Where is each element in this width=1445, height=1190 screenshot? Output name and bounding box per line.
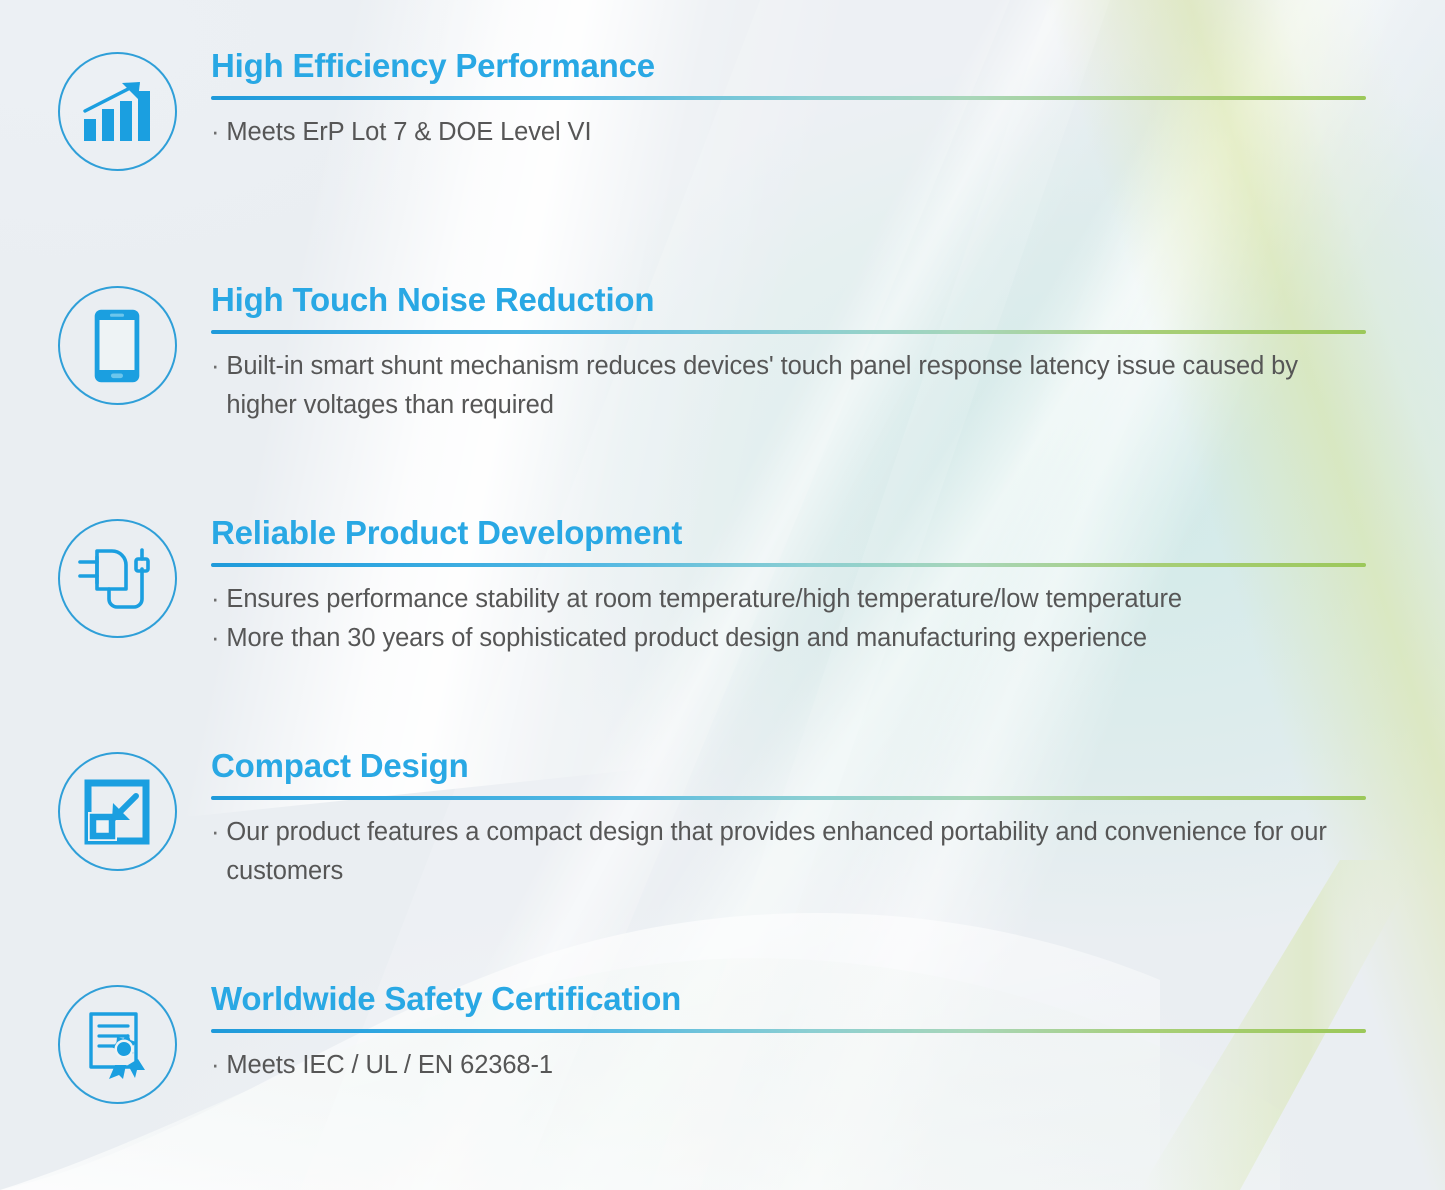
- feature-icon-container: [52, 748, 182, 871]
- feature-bullet: · Built-in smart shunt mechanism reduces…: [211, 347, 1365, 425]
- feature-item-high-touch-noise-reduction: High Touch Noise Reduction · Built-in sm…: [0, 282, 1445, 424]
- feature-title: High Efficiency Performance: [211, 48, 1365, 85]
- feature-bullet: · Ensures performance stability at room …: [211, 580, 1365, 619]
- feature-bullets: · Our product features a compact design …: [211, 813, 1365, 891]
- feature-item-worldwide-safety-certification: Worldwide Safety Certification · Meets I…: [0, 981, 1445, 1104]
- feature-text-block: Compact Design · Our product features a …: [182, 748, 1445, 890]
- bullet-text: Meets ErP Lot 7 & DOE Level VI: [226, 113, 1365, 152]
- feature-title: High Touch Noise Reduction: [211, 282, 1365, 319]
- feature-divider: [211, 1029, 1366, 1033]
- feature-bullets: · Meets ErP Lot 7 & DOE Level VI: [211, 113, 1365, 152]
- feature-title: Worldwide Safety Certification: [211, 981, 1365, 1018]
- feature-divider: [211, 796, 1366, 800]
- power-adapter-icon: [58, 519, 177, 638]
- bullet-marker: ·: [211, 619, 226, 658]
- feature-item-high-efficiency-performance: High Efficiency Performance · Meets ErP …: [0, 48, 1445, 171]
- feature-icon-container: [52, 282, 182, 405]
- feature-text-block: High Efficiency Performance · Meets ErP …: [182, 48, 1445, 152]
- bullet-marker: ·: [211, 813, 226, 891]
- compact-resize-icon: [58, 752, 177, 871]
- bar-chart-growth-icon: [58, 52, 177, 171]
- feature-bullets: · Meets IEC / UL / EN 62368-1: [211, 1046, 1365, 1085]
- bullet-text: Meets IEC / UL / EN 62368-1: [226, 1046, 1365, 1085]
- bullet-marker: ·: [211, 347, 226, 425]
- feature-title: Reliable Product Development: [211, 515, 1365, 552]
- feature-divider: [211, 563, 1366, 567]
- feature-text-block: Reliable Product Development · Ensures p…: [182, 515, 1445, 657]
- feature-divider: [211, 330, 1366, 334]
- feature-title: Compact Design: [211, 748, 1365, 785]
- bullet-text: More than 30 years of sophisticated prod…: [226, 619, 1365, 658]
- smartphone-icon: [58, 286, 177, 405]
- feature-text-block: High Touch Noise Reduction · Built-in sm…: [182, 282, 1445, 424]
- feature-bullet: · Meets IEC / UL / EN 62368-1: [211, 1046, 1365, 1085]
- feature-bullet: · Meets ErP Lot 7 & DOE Level VI: [211, 113, 1365, 152]
- feature-icon-container: [52, 981, 182, 1104]
- feature-bullet: · Our product features a compact design …: [211, 813, 1365, 891]
- bullet-text: Ensures performance stability at room te…: [226, 580, 1365, 619]
- feature-item-compact-design: Compact Design · Our product features a …: [0, 748, 1445, 890]
- feature-divider: [211, 96, 1366, 100]
- bullet-marker: ·: [211, 1046, 226, 1085]
- feature-icon-container: [52, 515, 182, 638]
- feature-text-block: Worldwide Safety Certification · Meets I…: [182, 981, 1445, 1085]
- bullet-text: Built-in smart shunt mechanism reduces d…: [226, 347, 1365, 425]
- feature-bullets: · Ensures performance stability at room …: [211, 580, 1365, 658]
- feature-item-reliable-product-development: Reliable Product Development · Ensures p…: [0, 515, 1445, 657]
- bullet-text: Our product features a compact design th…: [226, 813, 1365, 891]
- feature-list: High Efficiency Performance · Meets ErP …: [0, 0, 1445, 1190]
- bullet-marker: ·: [211, 580, 226, 619]
- feature-bullets: · Built-in smart shunt mechanism reduces…: [211, 347, 1365, 425]
- feature-bullet: · More than 30 years of sophisticated pr…: [211, 619, 1365, 658]
- feature-icon-container: [52, 48, 182, 171]
- certificate-award-icon: [58, 985, 177, 1104]
- bullet-marker: ·: [211, 113, 226, 152]
